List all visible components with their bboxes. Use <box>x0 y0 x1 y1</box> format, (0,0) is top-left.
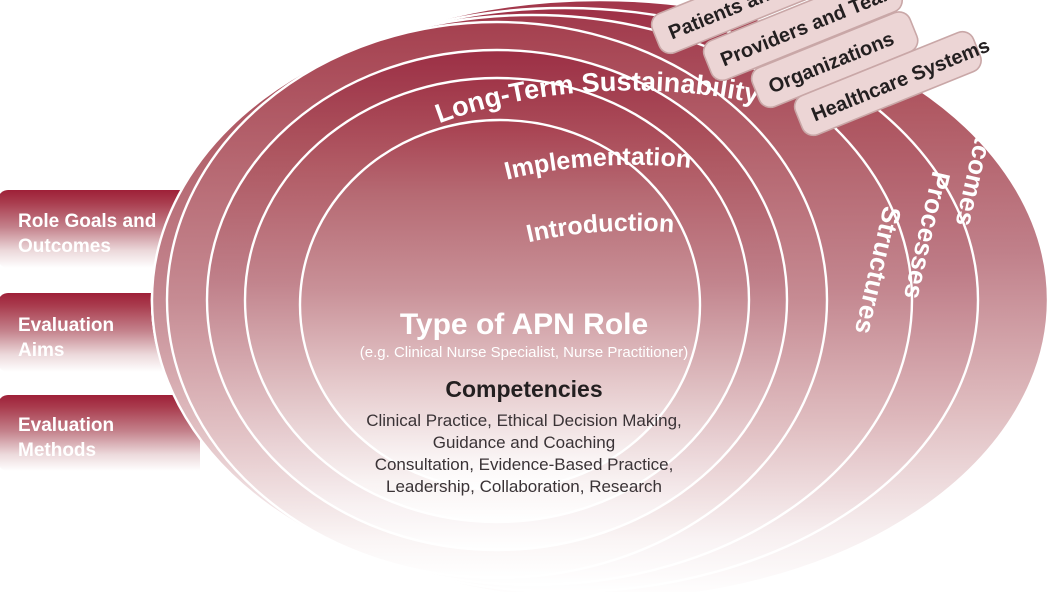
core-competency-line: Leadership, Collaboration, Research <box>386 477 662 496</box>
core-competency-line: Clinical Practice, Ethical Decision Maki… <box>366 411 682 430</box>
left-tab-label-line1: Evaluation <box>18 415 114 436</box>
left-tab-label-line2: Outcomes <box>18 236 111 257</box>
apn-framework-diagram: Role Goals and Outcomes Evaluation Aims … <box>0 0 1056 592</box>
left-tab-evaluation-methods[interactable]: Evaluation Methods <box>0 395 200 471</box>
core-competencies-heading: Competencies <box>445 376 602 402</box>
left-tab-label-line1: Role Goals and <box>18 211 156 232</box>
core-competency-line: Guidance and Coaching <box>433 433 615 452</box>
diagram-canvas: Role Goals and Outcomes Evaluation Aims … <box>0 0 1056 592</box>
core-competency-line: Consultation, Evidence-Based Practice, <box>375 455 674 474</box>
core-title: Type of APN Role <box>400 308 648 341</box>
left-tab-label-line1: Evaluation <box>18 315 114 336</box>
left-tab-label-line2: Methods <box>18 440 96 461</box>
left-tab-label-line2: Aims <box>18 340 64 361</box>
core-subtitle: (e.g. Clinical Nurse Specialist, Nurse P… <box>360 344 688 361</box>
